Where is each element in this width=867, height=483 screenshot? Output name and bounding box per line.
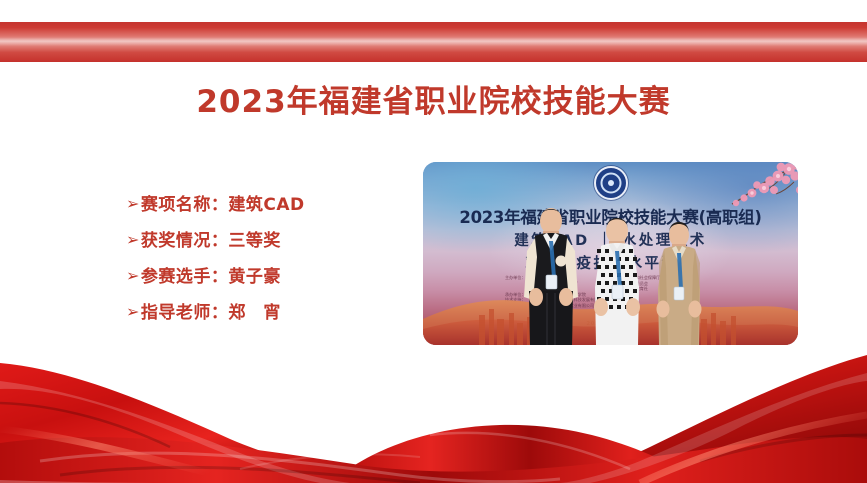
people-group [423, 205, 798, 345]
list-item-label: 指导老师： [141, 298, 229, 323]
list-item-value: 建筑CAD [228, 190, 304, 215]
award-info-list: ➢ 赛项名称： 建筑CAD ➢ 获奖情况： 三等奖 ➢ 参赛选手： 黄子豪 ➢ … [126, 190, 426, 334]
top-ribbon-bar [0, 22, 867, 62]
arrow-bullet-icon: ➢ [126, 302, 140, 321]
list-item: ➢ 参赛选手： 黄子豪 [126, 262, 426, 287]
list-item: ➢ 指导老师： 郑 宵 [126, 298, 426, 323]
award-photo: 2023年福建省职业院校技能大赛(高职组) 建筑CAD ｜ 水处理技术 鸡新城疫… [423, 162, 798, 345]
ribbon-highlight [0, 22, 867, 62]
list-item: ➢ 获奖情况： 三等奖 [126, 226, 426, 251]
list-item-label: 获奖情况： [141, 226, 229, 251]
list-item-value: 郑 宵 [228, 298, 281, 323]
person-right [657, 222, 702, 345]
person-middle [594, 218, 640, 345]
list-item: ➢ 赛项名称： 建筑CAD [126, 190, 426, 215]
competition-emblem-icon [594, 166, 628, 200]
bottom-silk-drape [0, 343, 867, 483]
arrow-bullet-icon: ➢ [126, 230, 140, 249]
person-left [524, 208, 578, 345]
arrow-bullet-icon: ➢ [126, 194, 140, 213]
list-item-label: 参赛选手： [141, 262, 229, 287]
list-item-value: 黄子豪 [228, 262, 281, 287]
list-item-value: 三等奖 [228, 226, 281, 251]
page-title: 2023年福建省职业院校技能大赛 [0, 76, 867, 121]
list-item-label: 赛项名称： [141, 190, 229, 215]
arrow-bullet-icon: ➢ [126, 266, 140, 285]
